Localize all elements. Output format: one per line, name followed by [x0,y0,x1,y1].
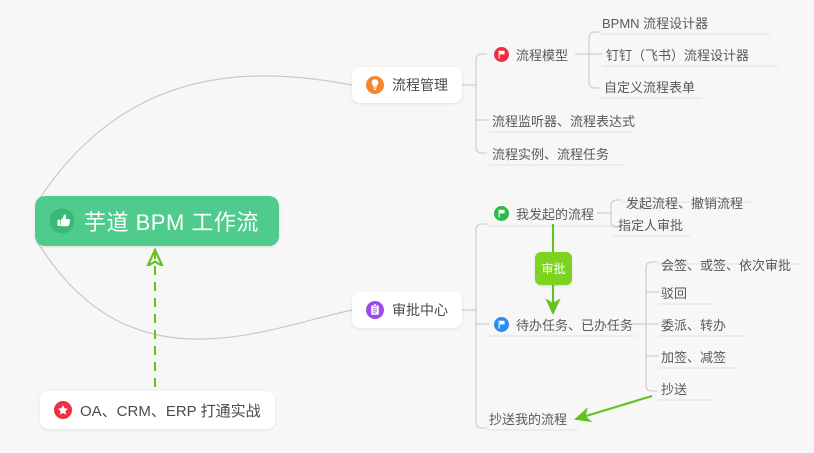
leaf-label-reject: 驳回 [661,283,687,302]
leaf-node-reject[interactable]: 驳回 [661,279,687,305]
bottom-note-node[interactable]: OA、CRM、ERP 打通实战 [40,391,275,429]
leaf-label-bpmn-designer: BPMN 流程设计器 [602,13,708,32]
thumbs-up-icon [49,208,75,234]
leaf-node-add-remove-sign[interactable]: 加签、减签 [661,343,726,369]
branch-node-approval-center[interactable]: 审批中心 [352,292,462,328]
leaf-label-process-listener-expression: 流程监听器、流程表达式 [492,111,635,130]
branch-label-process-management: 流程管理 [392,75,448,95]
bottom-note-label: OA、CRM、ERP 打通实战 [80,400,261,421]
leaf-node-countersign-or-sequential[interactable]: 会签、或签、依次审批 [661,251,791,277]
leaf-node-designated-approver[interactable]: 指定人审批 [618,211,683,237]
branch-label-approval-center: 审批中心 [392,300,448,320]
leaf-label-custom-process-form: 自定义流程表单 [604,77,695,96]
leaf-label-designated-approver: 指定人审批 [618,215,683,234]
leaf-label-dingtalk-feishu-designer: 钉钉（飞书）流程设计器 [606,45,749,64]
approval-badge-label: 审批 [541,260,565,277]
sub-label-todo-done-tasks: 待办任务、已办任务 [516,315,633,334]
root-node[interactable]: 芋道 BPM 工作流 [35,196,279,246]
sub-label-process-model: 流程模型 [516,45,568,64]
leaf-node-process-instance-task[interactable]: 流程实例、流程任务 [492,140,609,166]
sub-label-my-initiated-process: 我发起的流程 [516,204,594,223]
flag-icon [494,47,509,62]
leaf-label-cc-to-me-process: 抄送我的流程 [489,409,567,428]
root-label: 芋道 BPM 工作流 [84,205,259,237]
flag-icon [494,206,509,221]
leaf-node-delegate-transfer[interactable]: 委派、转办 [661,311,726,337]
leaf-label-start-cancel-process: 发起流程、撤销流程 [626,193,743,212]
sub-node-todo-done-tasks[interactable]: 待办任务、已办任务 [494,311,633,337]
leaf-node-process-listener-expression[interactable]: 流程监听器、流程表达式 [492,107,635,133]
leaf-node-cc[interactable]: 抄送 [661,375,687,401]
leaf-label-cc: 抄送 [661,379,687,398]
leaf-label-add-remove-sign: 加签、减签 [661,347,726,366]
flag-icon [494,317,509,332]
sub-node-process-model[interactable]: 流程模型 [494,41,568,67]
leaf-node-custom-process-form[interactable]: 自定义流程表单 [604,73,695,99]
leaf-node-bpmn-designer[interactable]: BPMN 流程设计器 [602,9,708,35]
branch-node-process-management[interactable]: 流程管理 [352,67,462,103]
leaf-label-countersign-or-sequential: 会签、或签、依次审批 [661,255,791,274]
leaf-label-process-instance-task: 流程实例、流程任务 [492,144,609,163]
approval-badge[interactable]: 审批 [535,252,572,285]
star-icon [54,401,72,419]
clipboard-icon [366,301,384,319]
leaf-node-dingtalk-feishu-designer[interactable]: 钉钉（飞书）流程设计器 [606,41,749,67]
lightbulb-icon [366,76,384,94]
leaf-label-delegate-transfer: 委派、转办 [661,315,726,334]
mindmap-canvas: 芋道 BPM 工作流 流程管理 流程模型 BPMN 流程设计器 钉钉（飞书 [0,0,814,453]
sub-node-my-initiated-process[interactable]: 我发起的流程 [494,200,594,226]
leaf-node-cc-to-me-process[interactable]: 抄送我的流程 [489,405,567,431]
